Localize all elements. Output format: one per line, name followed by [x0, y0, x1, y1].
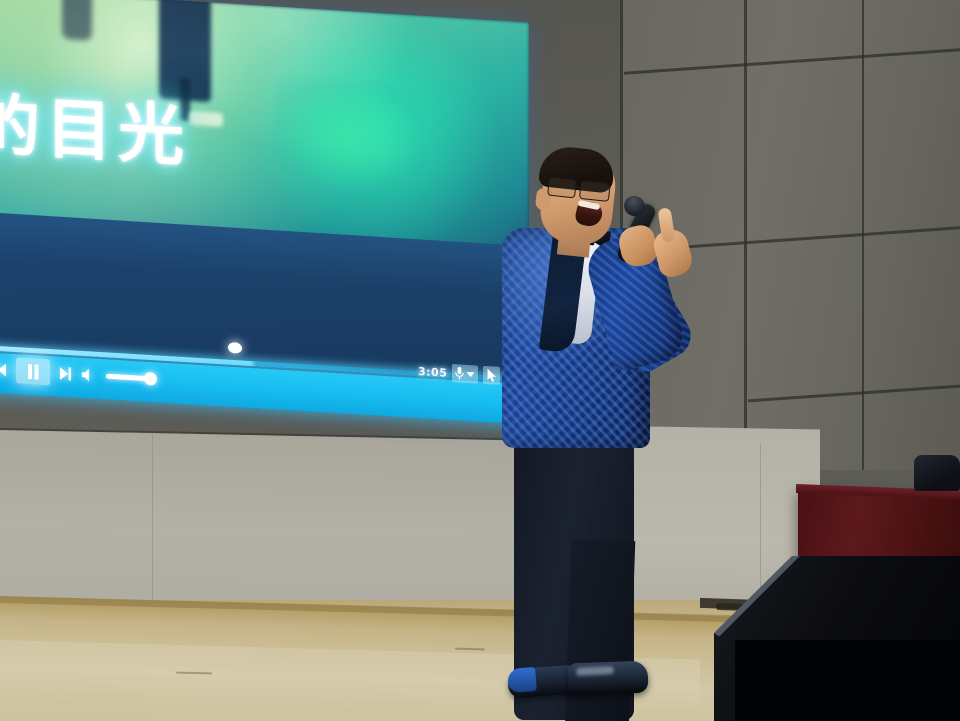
video-subtitle: 的目光 — [0, 92, 190, 170]
microphone-icon — [455, 366, 464, 381]
volume-slider[interactable] — [106, 373, 154, 381]
video-green-light-blob — [274, 76, 424, 195]
wall-seam — [862, 0, 864, 470]
speaker-figure — [480, 140, 740, 715]
play-pause-button[interactable] — [16, 357, 50, 385]
wall-seam — [760, 444, 761, 594]
playback-time: 3:05 — [418, 365, 447, 380]
playback-progress-handle[interactable] — [228, 342, 242, 354]
next-track-icon[interactable] — [59, 365, 72, 381]
stage-photo-scene: 的目光 3:05 — [0, 0, 960, 721]
chevron-down-icon — [466, 370, 475, 378]
eyeglass-lens-right — [579, 180, 611, 202]
previous-track-icon[interactable] — [0, 362, 7, 378]
object-on-podium — [914, 455, 960, 491]
monitor-body — [735, 640, 960, 721]
volume-icon[interactable] — [81, 367, 95, 383]
video-figure-shoe — [189, 111, 223, 127]
eyeglass-lens-left — [547, 177, 577, 199]
wall-seam — [744, 0, 747, 470]
shoe-left-blue-accent — [507, 667, 537, 693]
microphone-toggle-button[interactable] — [452, 364, 478, 384]
volume-slider-handle[interactable] — [144, 371, 157, 385]
video-figure-background — [62, 0, 92, 41]
